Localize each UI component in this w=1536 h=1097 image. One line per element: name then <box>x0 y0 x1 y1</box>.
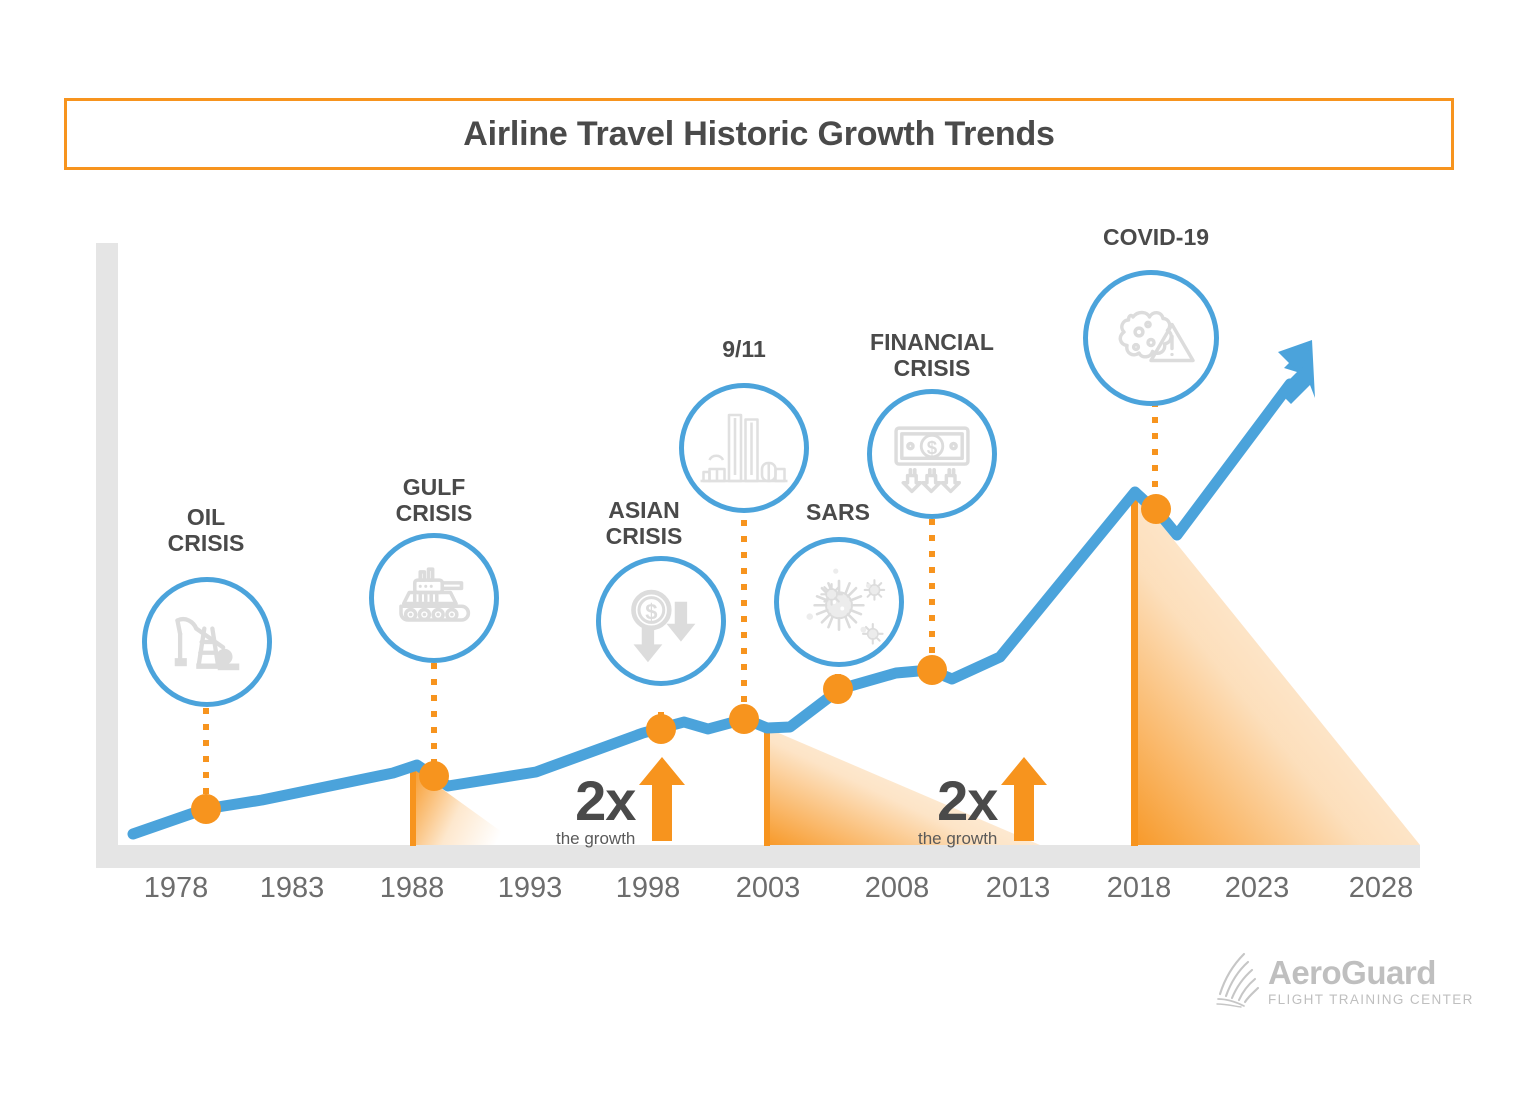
event-marker-financial-crisis[interactable]: $ <box>867 389 997 519</box>
tick-1998: 1998 <box>588 872 708 905</box>
growth-caption: the growth <box>556 829 635 849</box>
tick-1988: 1988 <box>352 872 472 905</box>
dot-gulf-crisis <box>419 761 449 791</box>
tick-1993: 1993 <box>470 872 590 905</box>
event-label-oil-crisis: OIL CRISIS <box>76 505 336 557</box>
logo-wordmark: AeroGuard <box>1268 956 1474 989</box>
coin-down-arrow-icon: $ <box>617 577 705 665</box>
growth-multiplier: 2x <box>575 775 635 827</box>
dot-financial-crisis <box>917 655 947 685</box>
virus-cluster-icon <box>787 550 891 654</box>
growth-annotation-2-text: 2x the growth <box>918 775 997 849</box>
growth-multiplier: 2x <box>937 775 997 827</box>
infographic-root: Airline Travel Historic Growth Trends <box>0 0 1536 1097</box>
event-label-financial-crisis: FINANCIAL CRISIS <box>802 330 1062 382</box>
tick-2008: 2008 <box>837 872 957 905</box>
growth-caption: the growth <box>918 829 997 849</box>
svg-text:$: $ <box>645 600 657 625</box>
event-marker-nine-eleven[interactable] <box>679 383 809 513</box>
oil-pumpjack-icon <box>164 599 250 685</box>
tick-2018: 2018 <box>1079 872 1199 905</box>
feather-wing-icon <box>1214 950 1266 1013</box>
dot-oil-crisis <box>191 794 221 824</box>
tick-1983: 1983 <box>232 872 352 905</box>
growth-up-arrow-icon <box>999 755 1049 848</box>
dot-covid-19 <box>1141 494 1171 524</box>
tick-2023: 2023 <box>1197 872 1317 905</box>
event-marker-covid-19[interactable] <box>1083 270 1219 406</box>
title-box: Airline Travel Historic Growth Trends <box>64 98 1454 170</box>
event-marker-sars[interactable] <box>774 537 904 667</box>
nine-eleven-drop-stem <box>764 728 770 846</box>
growth-annotation-1-text: 2x the growth <box>556 775 635 849</box>
event-marker-asian-crisis[interactable]: $ <box>596 556 726 686</box>
growth-up-arrow-icon <box>637 755 687 848</box>
covid-drop-shade <box>1135 492 1420 845</box>
gulf-drop-stem <box>410 768 416 846</box>
tick-2028: 2028 <box>1321 872 1441 905</box>
covid-drop-stem <box>1131 492 1138 846</box>
germ-warning-icon <box>1103 290 1199 386</box>
growth-annotation-1: 2x the growth <box>556 755 687 849</box>
event-marker-oil-crisis[interactable] <box>142 577 272 707</box>
tick-1978: 1978 <box>116 872 236 905</box>
tick-2003: 2003 <box>708 872 828 905</box>
trend-arrowhead <box>1278 340 1315 404</box>
page-title: Airline Travel Historic Growth Trends <box>463 115 1055 154</box>
growth-annotation-2: 2x the growth <box>918 755 1049 849</box>
brand-logo: AeroGuard FLIGHT TRAINING CENTER <box>1214 950 1474 1013</box>
x-axis-bar <box>96 845 1420 868</box>
dot-asian-crisis <box>646 714 676 744</box>
dot-sars <box>823 674 853 704</box>
tick-2013: 2013 <box>958 872 1078 905</box>
twin-towers-icon <box>696 400 792 496</box>
gulf-drop-shade <box>413 768 520 845</box>
trend-arrowhead-fill <box>1278 340 1312 374</box>
logo-subtitle: FLIGHT TRAINING CENTER <box>1268 993 1474 1007</box>
tank-icon <box>390 554 478 642</box>
banknote-down-icon: $ <box>886 408 978 500</box>
event-label-covid-19: COVID-19 <box>1026 225 1286 251</box>
svg-text:$: $ <box>927 437 938 458</box>
event-marker-gulf-crisis[interactable] <box>369 533 499 663</box>
dot-nine-eleven <box>729 704 759 734</box>
